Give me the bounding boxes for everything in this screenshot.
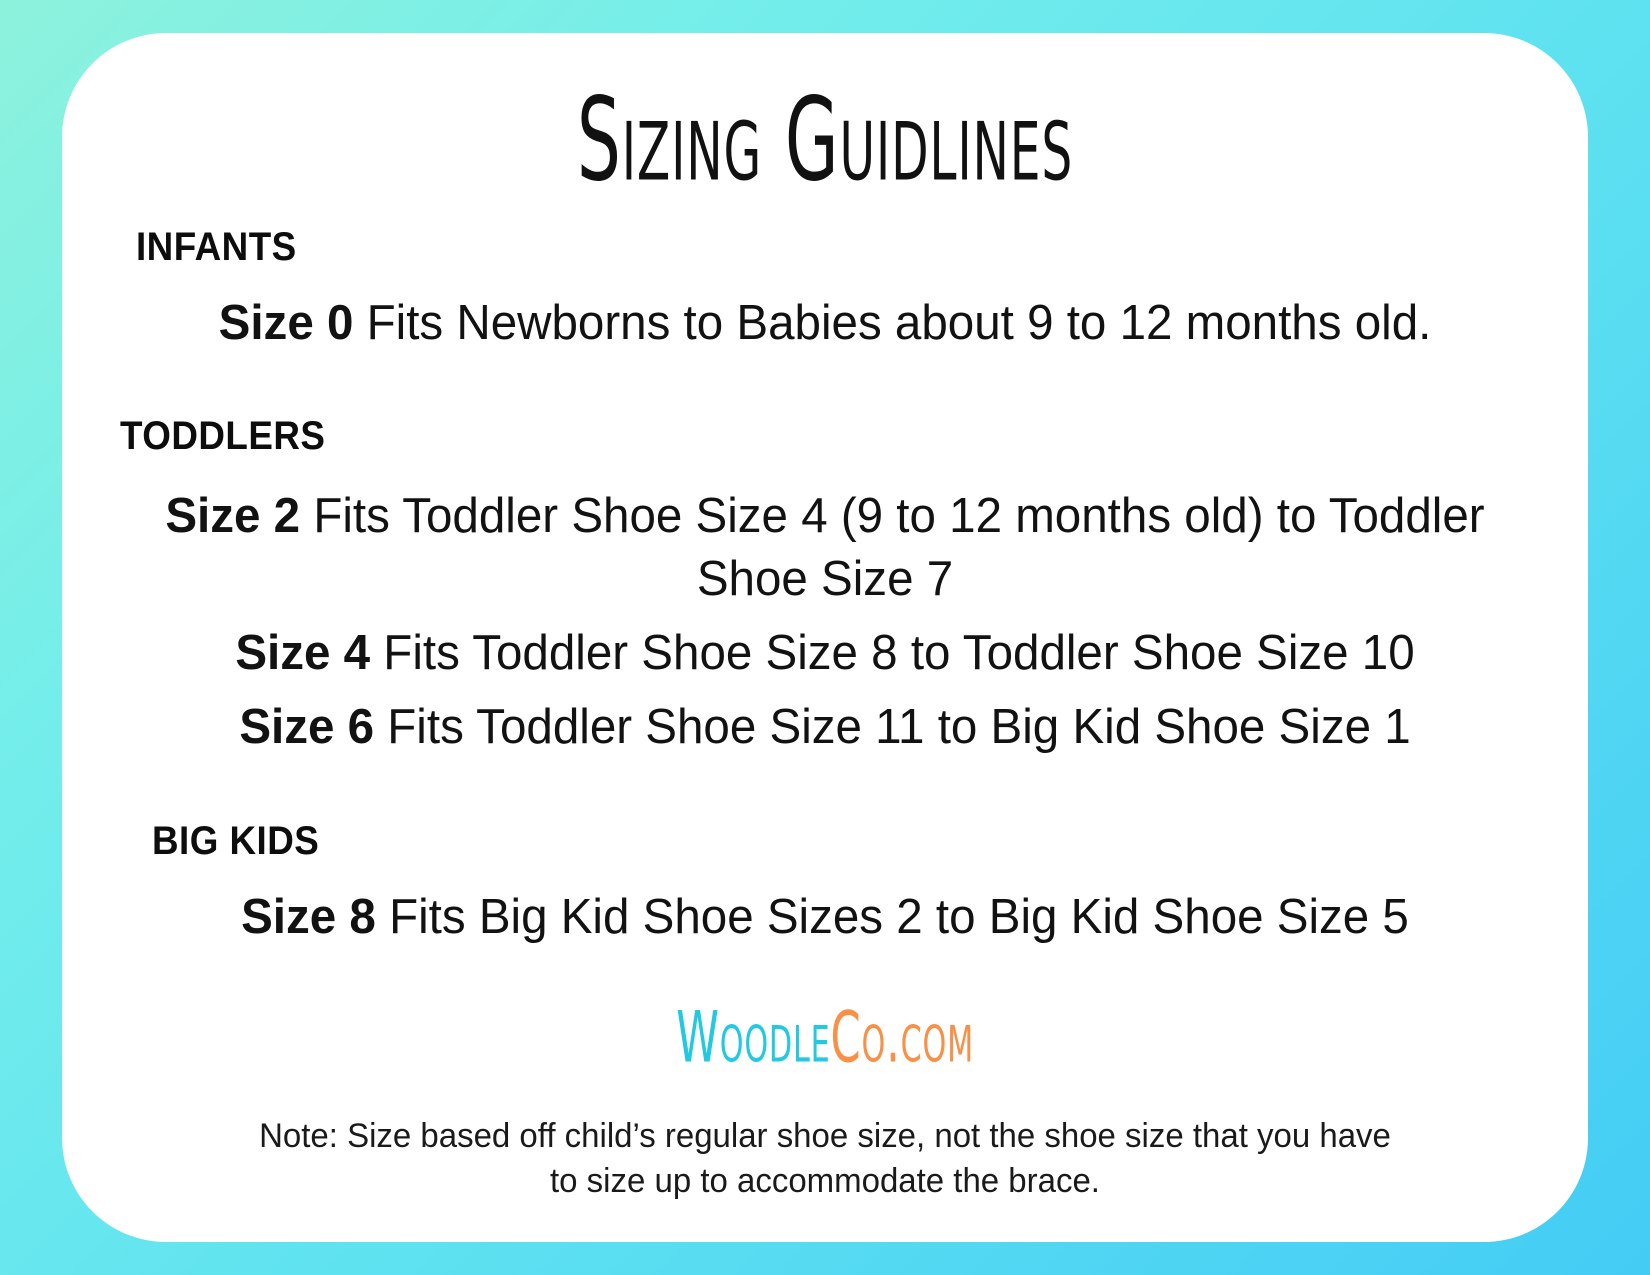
sizing-guide-poster: Sizing Guidlines INFANTS Size 0 Fits New…	[0, 0, 1650, 1275]
section-heading-infants: INFANTS	[136, 225, 1472, 270]
size-row-2: Size 2 Fits Toddler Shoe Size 4 (9 to 12…	[85, 485, 1565, 612]
brand-name: Woodle	[676, 997, 830, 1080]
size-description-6: Fits Toddler Shoe Size 11 to Big Kid Sho…	[374, 700, 1411, 754]
size-row-4: Size 4 Fits Toddler Shoe Size 8 to Toddl…	[85, 622, 1565, 686]
size-description-8: Fits Big Kid Shoe Sizes 2 to Big Kid Sho…	[376, 890, 1409, 944]
size-label-0: Size 0	[219, 296, 354, 350]
poster-content: Sizing Guidlines INFANTS Size 0 Fits New…	[62, 33, 1588, 1242]
brand-domain: Co.com	[830, 997, 973, 1080]
section-heading-toddlers: TODDLERS	[120, 414, 1471, 459]
page-title: Sizing Guidlines	[199, 33, 1450, 199]
sizing-note: Note: Size based off child’s regular sho…	[253, 1114, 1398, 1204]
brand-logo[interactable]: WoodleCo.com	[62, 1008, 1588, 1068]
section-heading-big-kids: BIG KIDS	[152, 819, 1473, 864]
size-label-8: Size 8	[241, 890, 376, 944]
size-description-2: Fits Toddler Shoe Size 4 (9 to 12 months…	[300, 489, 1485, 607]
size-label-4: Size 4	[235, 626, 370, 680]
size-row-8: Size 8 Fits Big Kid Shoe Sizes 2 to Big …	[85, 886, 1565, 950]
size-label-6: Size 6	[239, 700, 374, 754]
size-description-0: Fits Newborns to Babies about 9 to 12 mo…	[353, 296, 1431, 350]
size-label-2: Size 2	[165, 489, 300, 543]
brand-logo-wrap: WoodleCo.com	[676, 1003, 974, 1074]
size-row-6: Size 6 Fits Toddler Shoe Size 11 to Big …	[85, 696, 1565, 760]
size-row-0: Size 0 Fits Newborns to Babies about 9 t…	[85, 292, 1565, 356]
size-description-4: Fits Toddler Shoe Size 8 to Toddler Shoe…	[370, 626, 1415, 680]
